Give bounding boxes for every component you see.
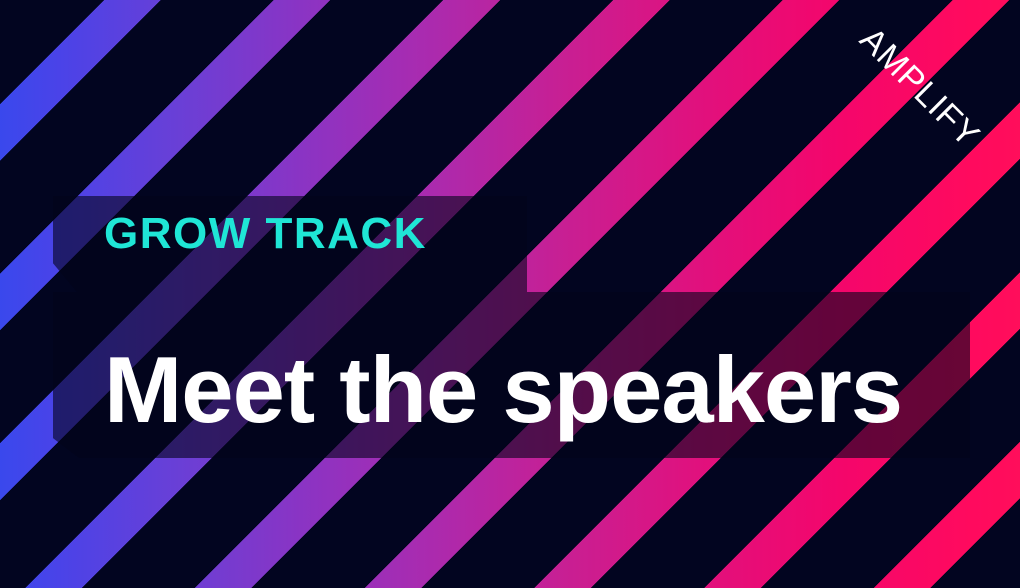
event-promo-banner: GROW TRACK Meet the speakers AMPLIFY <box>0 0 1020 588</box>
track-label: GROW TRACK <box>104 205 427 263</box>
page-title: Meet the speakers <box>104 334 902 446</box>
